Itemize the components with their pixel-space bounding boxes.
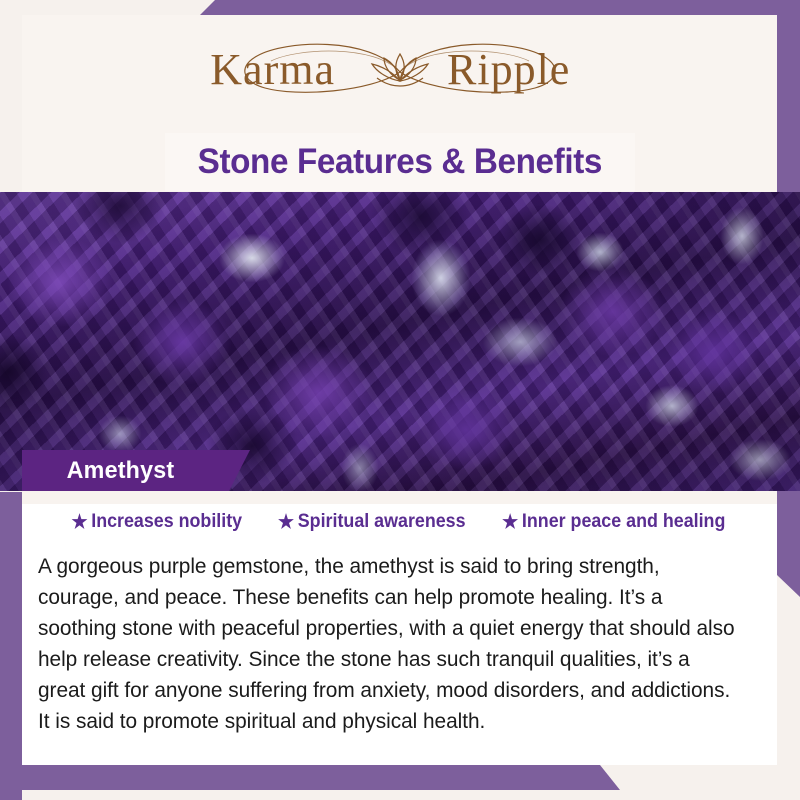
benefit-item-3: ★ Inner peace and healing bbox=[502, 511, 725, 533]
panel-top-strip bbox=[22, 491, 777, 504]
brand-word-right: Ripple bbox=[447, 45, 570, 94]
benefit-label-3: Inner peace and healing bbox=[522, 511, 725, 533]
page-title-box: Stone Features & Benefits bbox=[165, 133, 635, 191]
stone-name-label: Amethyst bbox=[67, 457, 175, 485]
photo-vignette bbox=[0, 192, 800, 491]
page-title: Stone Features & Benefits bbox=[198, 142, 602, 182]
frame-bar-bottom bbox=[0, 765, 800, 790]
star-icon: ★ bbox=[502, 513, 518, 532]
benefits-list: ★ Increases nobility ★ Spiritual awarene… bbox=[22, 511, 777, 533]
stone-details-panel: ★ Increases nobility ★ Spiritual awarene… bbox=[22, 491, 777, 765]
stone-name-banner: Amethyst bbox=[22, 450, 250, 491]
benefit-item-2: ★ Spiritual awareness bbox=[278, 511, 466, 533]
star-icon: ★ bbox=[72, 513, 88, 532]
brand-word-left: Karma bbox=[210, 45, 335, 94]
stone-photo bbox=[0, 192, 800, 491]
product-info-card: Karma Ripple Stone Features & Benefits A… bbox=[0, 0, 800, 800]
frame-bar-top bbox=[0, 0, 800, 15]
benefit-item-1: ★ Increases nobility bbox=[72, 511, 243, 533]
brand-logo: Karma Ripple bbox=[0, 26, 800, 118]
star-icon: ★ bbox=[278, 513, 294, 532]
benefit-label-1: Increases nobility bbox=[91, 511, 242, 533]
karma-ripple-logo-svg: Karma Ripple bbox=[185, 26, 615, 118]
frame-bar-left bbox=[0, 492, 22, 800]
benefit-label-2: Spiritual awareness bbox=[298, 511, 466, 533]
stone-description: A gorgeous purple gemstone, the amethyst… bbox=[38, 551, 738, 737]
